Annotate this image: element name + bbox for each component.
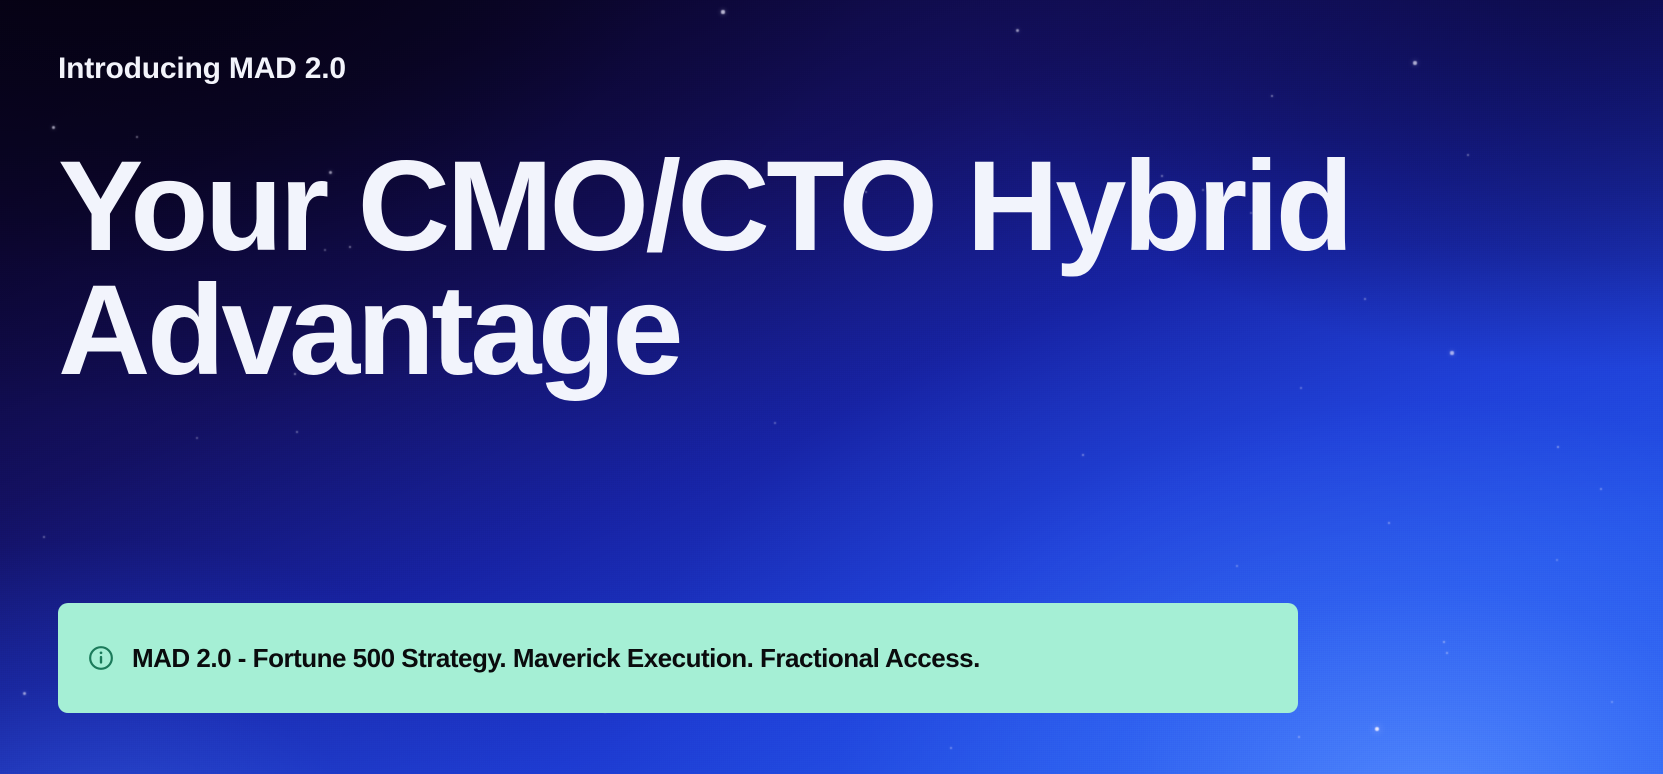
page-title: Your CMO/CTO Hybrid Advantage [58, 145, 1488, 393]
headline-line-1: Your CMO/CTO Hybrid [58, 145, 1488, 269]
info-circle-icon [88, 645, 114, 671]
eyebrow-label: Introducing MAD 2.0 [58, 52, 1603, 85]
headline-line-2: Advantage [58, 269, 1488, 393]
info-callout-banner: MAD 2.0 - Fortune 500 Strategy. Maverick… [58, 603, 1298, 713]
info-callout-text: MAD 2.0 - Fortune 500 Strategy. Maverick… [132, 643, 980, 674]
hero-section: Introducing MAD 2.0 Your CMO/CTO Hybrid … [0, 0, 1663, 774]
